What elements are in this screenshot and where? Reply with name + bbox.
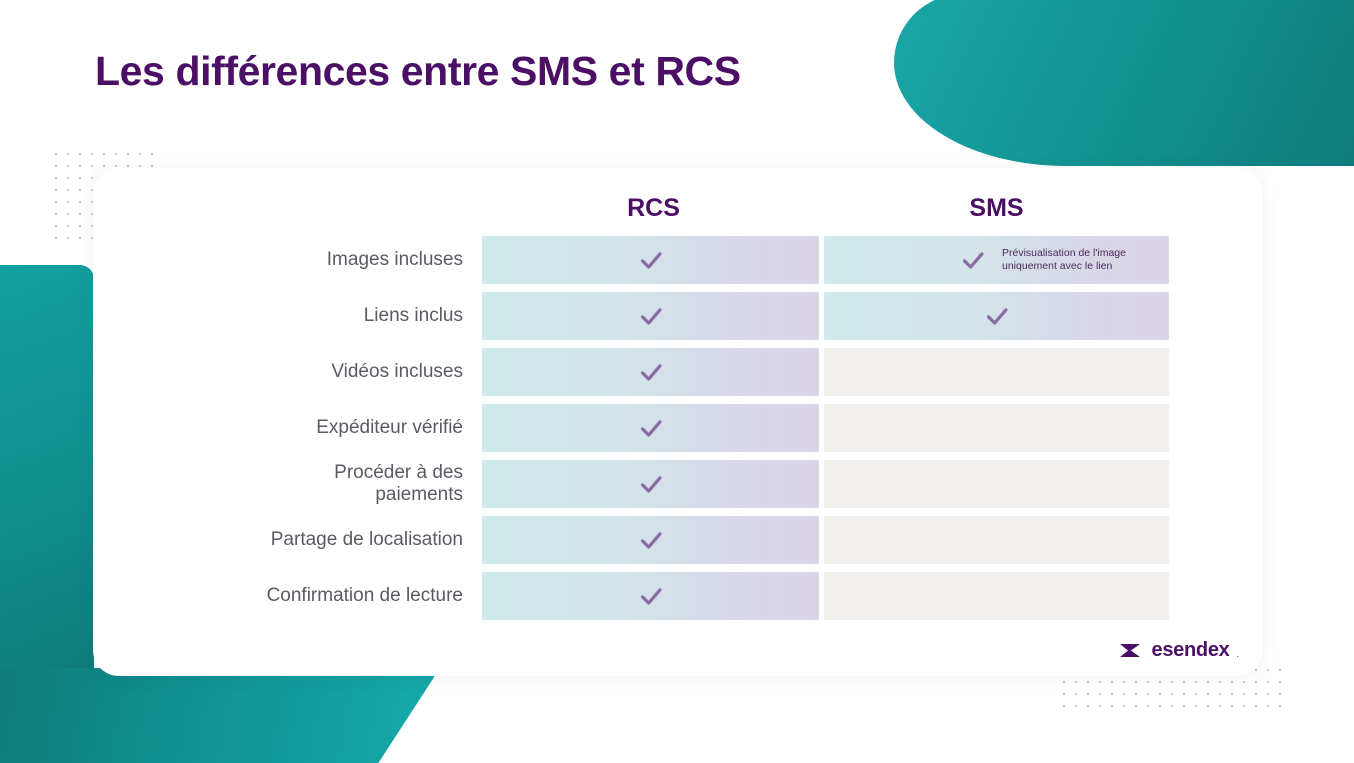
page-title: Les différences entre SMS et RCS	[95, 48, 741, 95]
esendex-logo: esendex .	[1119, 639, 1239, 662]
row-label: Procéder à despaiements	[93, 460, 465, 508]
cell-sms	[824, 348, 1169, 396]
cell-sms	[824, 572, 1169, 620]
cell-sms	[824, 404, 1169, 452]
cell-rcs	[482, 460, 819, 508]
check-icon	[636, 301, 666, 331]
esendex-logo-trademark: .	[1236, 649, 1239, 662]
cell-rcs	[482, 404, 819, 452]
slide-root: Les différences entre SMS et RCS RCS SMS…	[0, 0, 1354, 763]
row-label: Liens inclus	[93, 292, 465, 340]
check-icon	[958, 245, 988, 275]
row-label: Confirmation de lecture	[93, 572, 465, 620]
table-row: Procéder à despaiements	[93, 460, 1263, 508]
cell-sms	[824, 516, 1169, 564]
cell-rcs	[482, 516, 819, 564]
table-row: Images inclusesPrévisualisation de l'ima…	[93, 236, 1263, 284]
table-row: Partage de localisation	[93, 516, 1263, 564]
table-row: Liens inclus	[93, 292, 1263, 340]
row-label: Partage de localisation	[93, 516, 465, 564]
decorative-teal-shape-bottom-notch	[0, 628, 94, 668]
table-row: Confirmation de lecture	[93, 572, 1263, 620]
comparison-card: RCS SMS Images inclusesPrévisualisation …	[93, 168, 1263, 676]
row-label: Expéditeur vérifié	[93, 404, 465, 452]
table-header-row: RCS SMS	[93, 194, 1263, 238]
cell-sms: Prévisualisation de l'imageuniquement av…	[824, 236, 1169, 284]
decorative-teal-shape-left	[0, 265, 94, 690]
decorative-teal-shape-top-right	[894, 0, 1354, 166]
cell-sms	[824, 292, 1169, 340]
decorative-teal-shape-bottom-left	[0, 668, 440, 763]
row-label: Images incluses	[93, 236, 465, 284]
cell-rcs	[482, 292, 819, 340]
column-header-rcs: RCS	[482, 194, 825, 223]
check-icon	[982, 301, 1012, 331]
cell-sms	[824, 460, 1169, 508]
cell-note: Prévisualisation de l'imageuniquement av…	[1002, 247, 1126, 273]
check-icon	[636, 525, 666, 555]
cell-rcs	[482, 348, 819, 396]
cell-rcs	[482, 236, 819, 284]
esendex-arrow-icon	[1119, 642, 1145, 659]
check-icon	[636, 581, 666, 611]
check-icon	[636, 413, 666, 443]
table-row: Expéditeur vérifié	[93, 404, 1263, 452]
row-label: Vidéos incluses	[93, 348, 465, 396]
esendex-logo-text: esendex	[1152, 639, 1230, 662]
table-row: Vidéos incluses	[93, 348, 1263, 396]
check-icon	[636, 357, 666, 387]
cell-rcs	[482, 572, 819, 620]
check-icon	[636, 245, 666, 275]
check-icon	[636, 469, 666, 499]
column-header-sms: SMS	[824, 194, 1169, 223]
